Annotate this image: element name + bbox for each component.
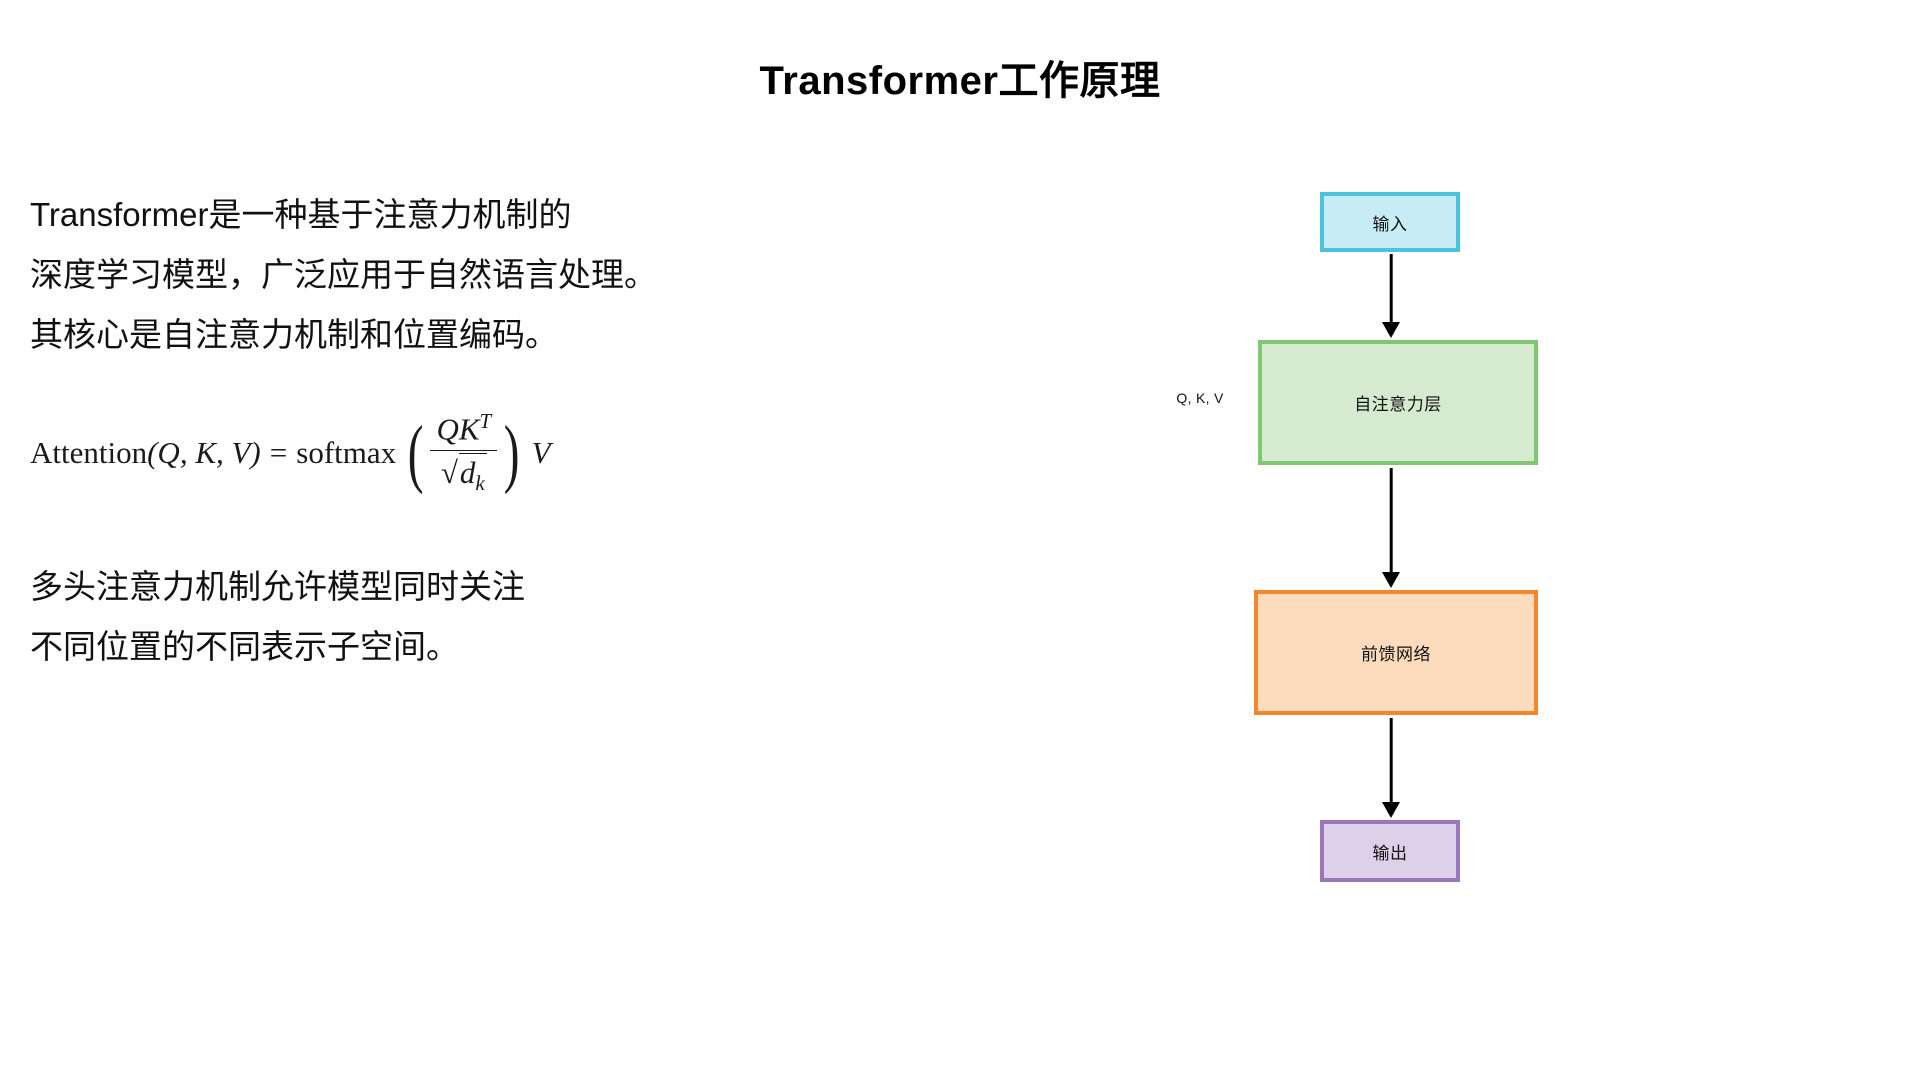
flow-node-feedforward-label: 前馈网络 [1361, 640, 1431, 665]
formula-numerator-exponent: T [480, 409, 492, 433]
flow-node-input[interactable]: 输入 [1320, 192, 1460, 252]
flow-arrow-ffn-to-output [1390, 718, 1392, 818]
description-column: Transformer是一种基于注意力机制的 深度学习模型，广泛应用于自然语言处… [30, 185, 850, 677]
formula-left-paren: ( [408, 423, 424, 484]
formula-arguments: (Q, K, V) [147, 435, 261, 471]
formula-function-name: Attention [30, 435, 147, 471]
arrow-shaft [1390, 468, 1393, 576]
transformer-flow-diagram: 输入 Q, K, V 自注意力层 前馈网络 输出 [1150, 150, 1770, 1050]
formula-trailing-term: V [532, 435, 551, 471]
formula-equals-sign: = [270, 435, 287, 471]
flow-node-self-attention[interactable]: 自注意力层 [1258, 340, 1538, 465]
attention-formula: Attention(Q, K, V) = softmax ( QKT √dk )… [30, 405, 850, 501]
arrow-shaft [1390, 718, 1393, 806]
intro-paragraph: Transformer是一种基于注意力机制的 深度学习模型，广泛应用于自然语言处… [30, 185, 850, 365]
flow-node-input-label: 输入 [1373, 210, 1408, 235]
flow-arrow-attention-to-ffn [1390, 468, 1392, 588]
arrow-shaft [1390, 254, 1393, 326]
formula-radicand: dk [459, 453, 487, 496]
sqrt-icon: √ [441, 455, 458, 490]
flow-node-feedforward[interactable]: 前馈网络 [1254, 590, 1538, 715]
formula-denominator-subscript: k [475, 472, 484, 496]
flow-node-output-label: 输出 [1373, 839, 1408, 864]
formula-numerator-base: QK [436, 412, 479, 447]
formula-softmax-operator: softmax [296, 435, 396, 471]
edge-label-qkv: Q, K, V [1150, 390, 1250, 406]
arrow-head-icon [1382, 322, 1400, 338]
formula-right-paren: ) [504, 423, 520, 484]
formula-fraction: QKT √dk [430, 409, 497, 496]
flow-node-self-attention-label: 自注意力层 [1354, 390, 1442, 415]
multihead-paragraph: 多头注意力机制允许模型同时关注 不同位置的不同表示子空间。 [30, 557, 850, 677]
flow-node-output[interactable]: 输出 [1320, 820, 1460, 882]
arrow-head-icon [1382, 572, 1400, 588]
page-title: Transformer工作原理 [0, 48, 1920, 106]
formula-numerator: QKT [430, 409, 497, 449]
formula-denominator: √dk [435, 451, 493, 496]
flow-arrow-input-to-attention [1390, 254, 1392, 338]
arrow-head-icon [1382, 802, 1400, 818]
formula-denominator-base: d [460, 455, 476, 490]
